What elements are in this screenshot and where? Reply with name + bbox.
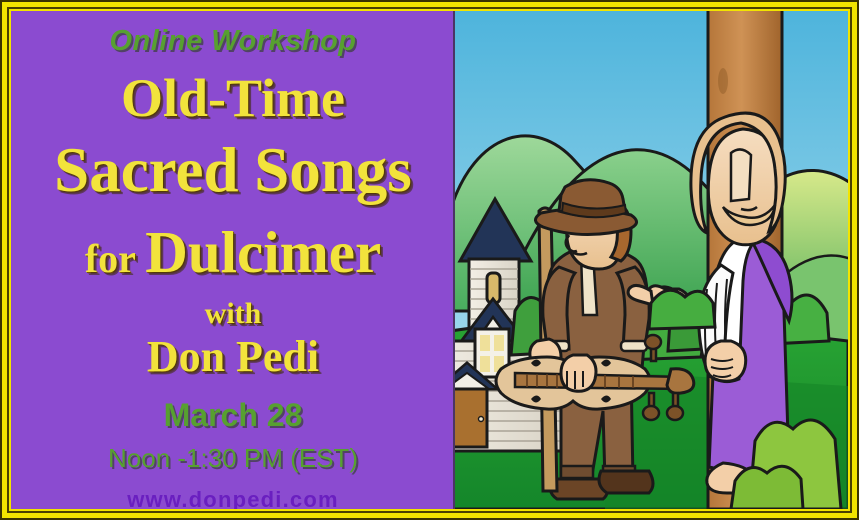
cuff-right [621,341,647,351]
title-line-1: Old-Time [11,71,455,125]
dulcimer-fretboard [515,373,683,389]
workshop-illustration [455,11,848,509]
with-label: with [11,299,455,329]
event-time: Noon -1:30 PM (EST) [11,445,455,471]
illustration-panel [455,11,848,509]
title-line-3-big: Dulcimer [145,219,381,285]
title-line-2: Sacred Songs [11,139,455,202]
man-boot-right [599,471,653,493]
text-panel: Online Workshop Old-Time Sacred Songs fo… [11,11,455,509]
title-line-3: for Dulcimer [11,223,455,282]
website-url[interactable]: www.donpedi.com [11,489,455,509]
door-knob [479,417,484,422]
dulcimer-headstock [667,369,694,394]
poster: Online Workshop Old-Time Sacred Songs fo… [0,0,859,520]
event-date: March 28 [11,399,455,431]
figure-forehead-lock [731,149,751,201]
eyebrow-label: Online Workshop [11,27,455,56]
presenter-name: Don Pedi [11,335,455,379]
title-line-3-small: for [85,236,135,281]
